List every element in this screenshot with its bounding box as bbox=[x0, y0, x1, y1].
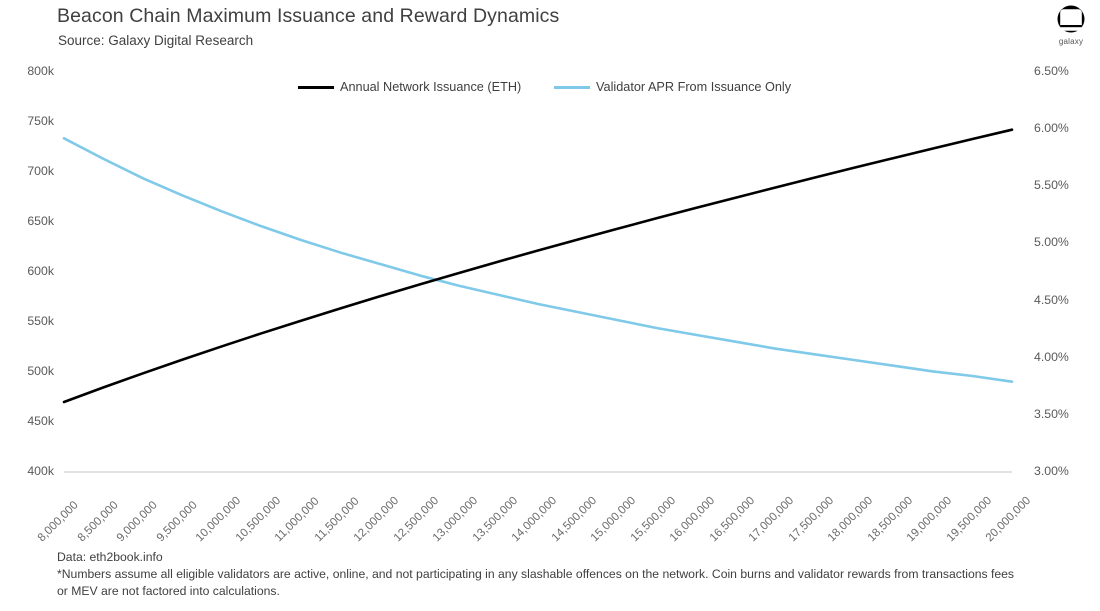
y-axis-right-tick-label: 5.50% bbox=[1034, 178, 1092, 192]
y-axis-left-tick-label: 400k bbox=[8, 464, 54, 478]
y-axis-left-tick-label: 600k bbox=[8, 264, 54, 278]
y-axis-left-tick-label: 700k bbox=[8, 164, 54, 178]
y-axis-left-tick-label: 800k bbox=[8, 64, 54, 78]
y-axis-right-tick-label: 3.00% bbox=[1034, 464, 1092, 478]
y-axis-left-tick-label: 650k bbox=[8, 214, 54, 228]
footnote-source: Data: eth2book.info bbox=[57, 549, 1017, 565]
footnote-disclaimer: *Numbers assume all eligible validators … bbox=[57, 566, 1017, 600]
y-axis-right-tick-label: 3.50% bbox=[1034, 407, 1092, 421]
y-axis-right-tick-label: 6.00% bbox=[1034, 121, 1092, 135]
series-line-apr bbox=[64, 138, 1012, 381]
y-axis-left-tick-label: 500k bbox=[8, 364, 54, 378]
y-axis-right-tick-label: 6.50% bbox=[1034, 64, 1092, 78]
y-axis-left-tick-label: 750k bbox=[8, 114, 54, 128]
y-axis-right-tick-label: 4.00% bbox=[1034, 350, 1092, 364]
footnotes-block: Data: eth2book.info *Numbers assume all … bbox=[57, 549, 1017, 600]
y-axis-left-tick-label: 550k bbox=[8, 314, 54, 328]
y-axis-left-tick-label: 450k bbox=[8, 414, 54, 428]
chart-plot-area: 400k450k500k550k600k650k700k750k800k 3.0… bbox=[0, 0, 1100, 611]
y-axis-right-tick-label: 4.50% bbox=[1034, 293, 1092, 307]
y-axis-right-tick-label: 5.00% bbox=[1034, 235, 1092, 249]
